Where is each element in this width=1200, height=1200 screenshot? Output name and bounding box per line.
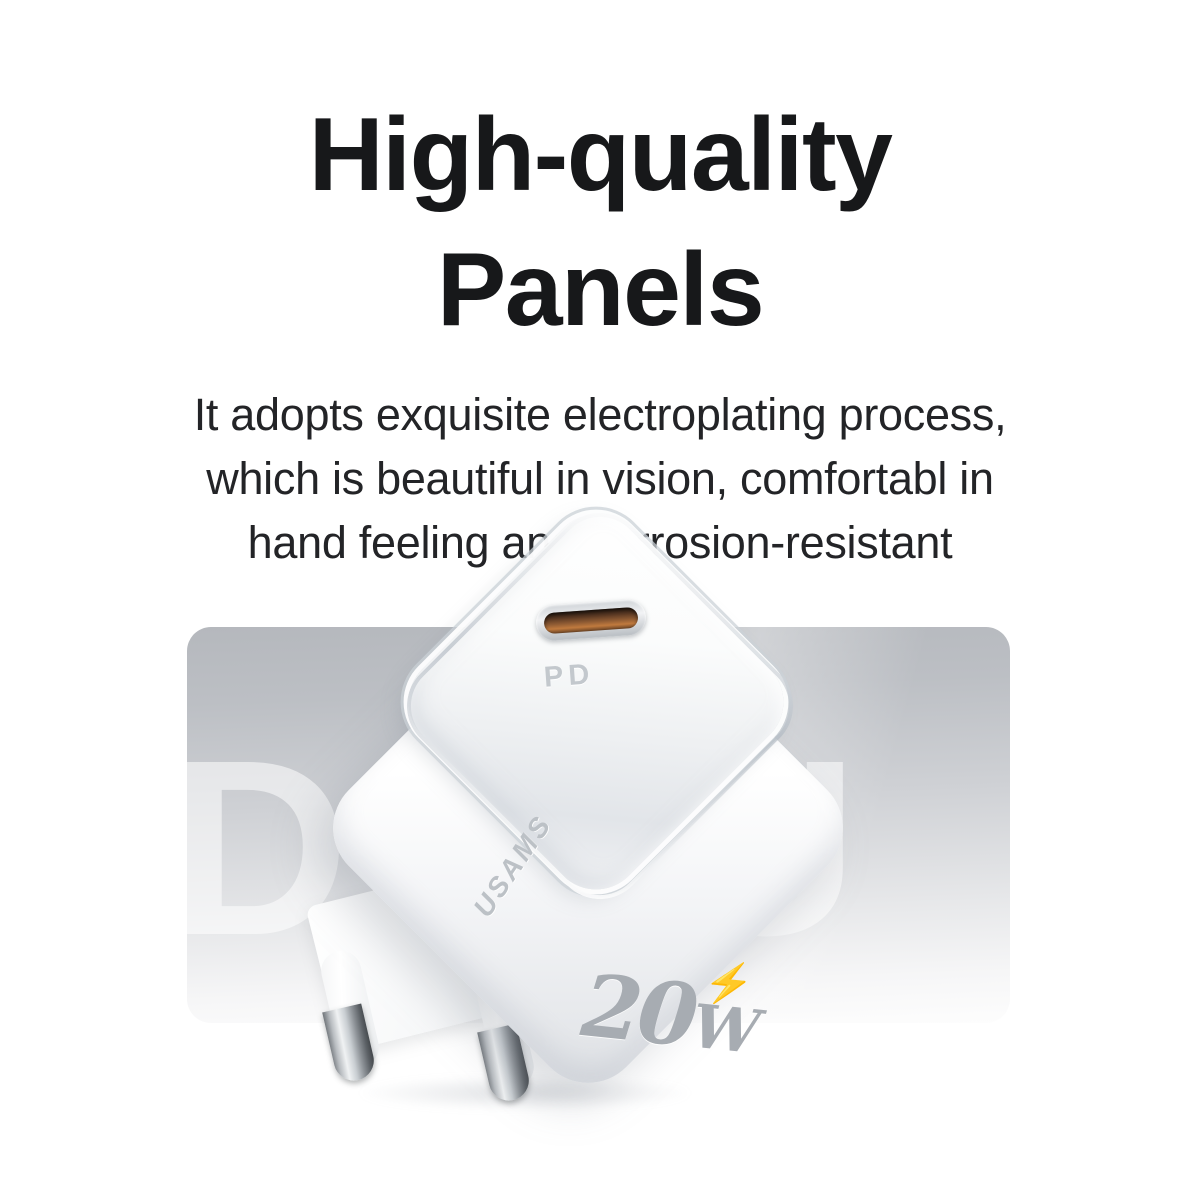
pd-label: PD <box>543 658 595 694</box>
usb-c-port-interior <box>543 606 638 634</box>
marketing-banner: High-quality Panels It adopts exquisite … <box>0 0 1200 1200</box>
headline-line-1: High-quality <box>309 97 892 213</box>
description-line-1: It adopts exquisite electroplating proce… <box>60 383 1140 447</box>
charger-product: PD USAMS 20W ⚡ <box>300 520 920 1200</box>
wattage-number: 20 <box>577 955 699 1067</box>
usb-c-port-icon <box>535 598 647 642</box>
headline-line-2: Panels <box>0 223 1200 358</box>
lightning-bolt-icon: ⚡ <box>702 958 756 1010</box>
product-image: DU U PD USAMS 20W <box>0 520 1200 1200</box>
page-title: High-quality Panels <box>0 88 1200 358</box>
description-line-2: which is beautiful in vision, comfortabl… <box>60 447 1140 511</box>
